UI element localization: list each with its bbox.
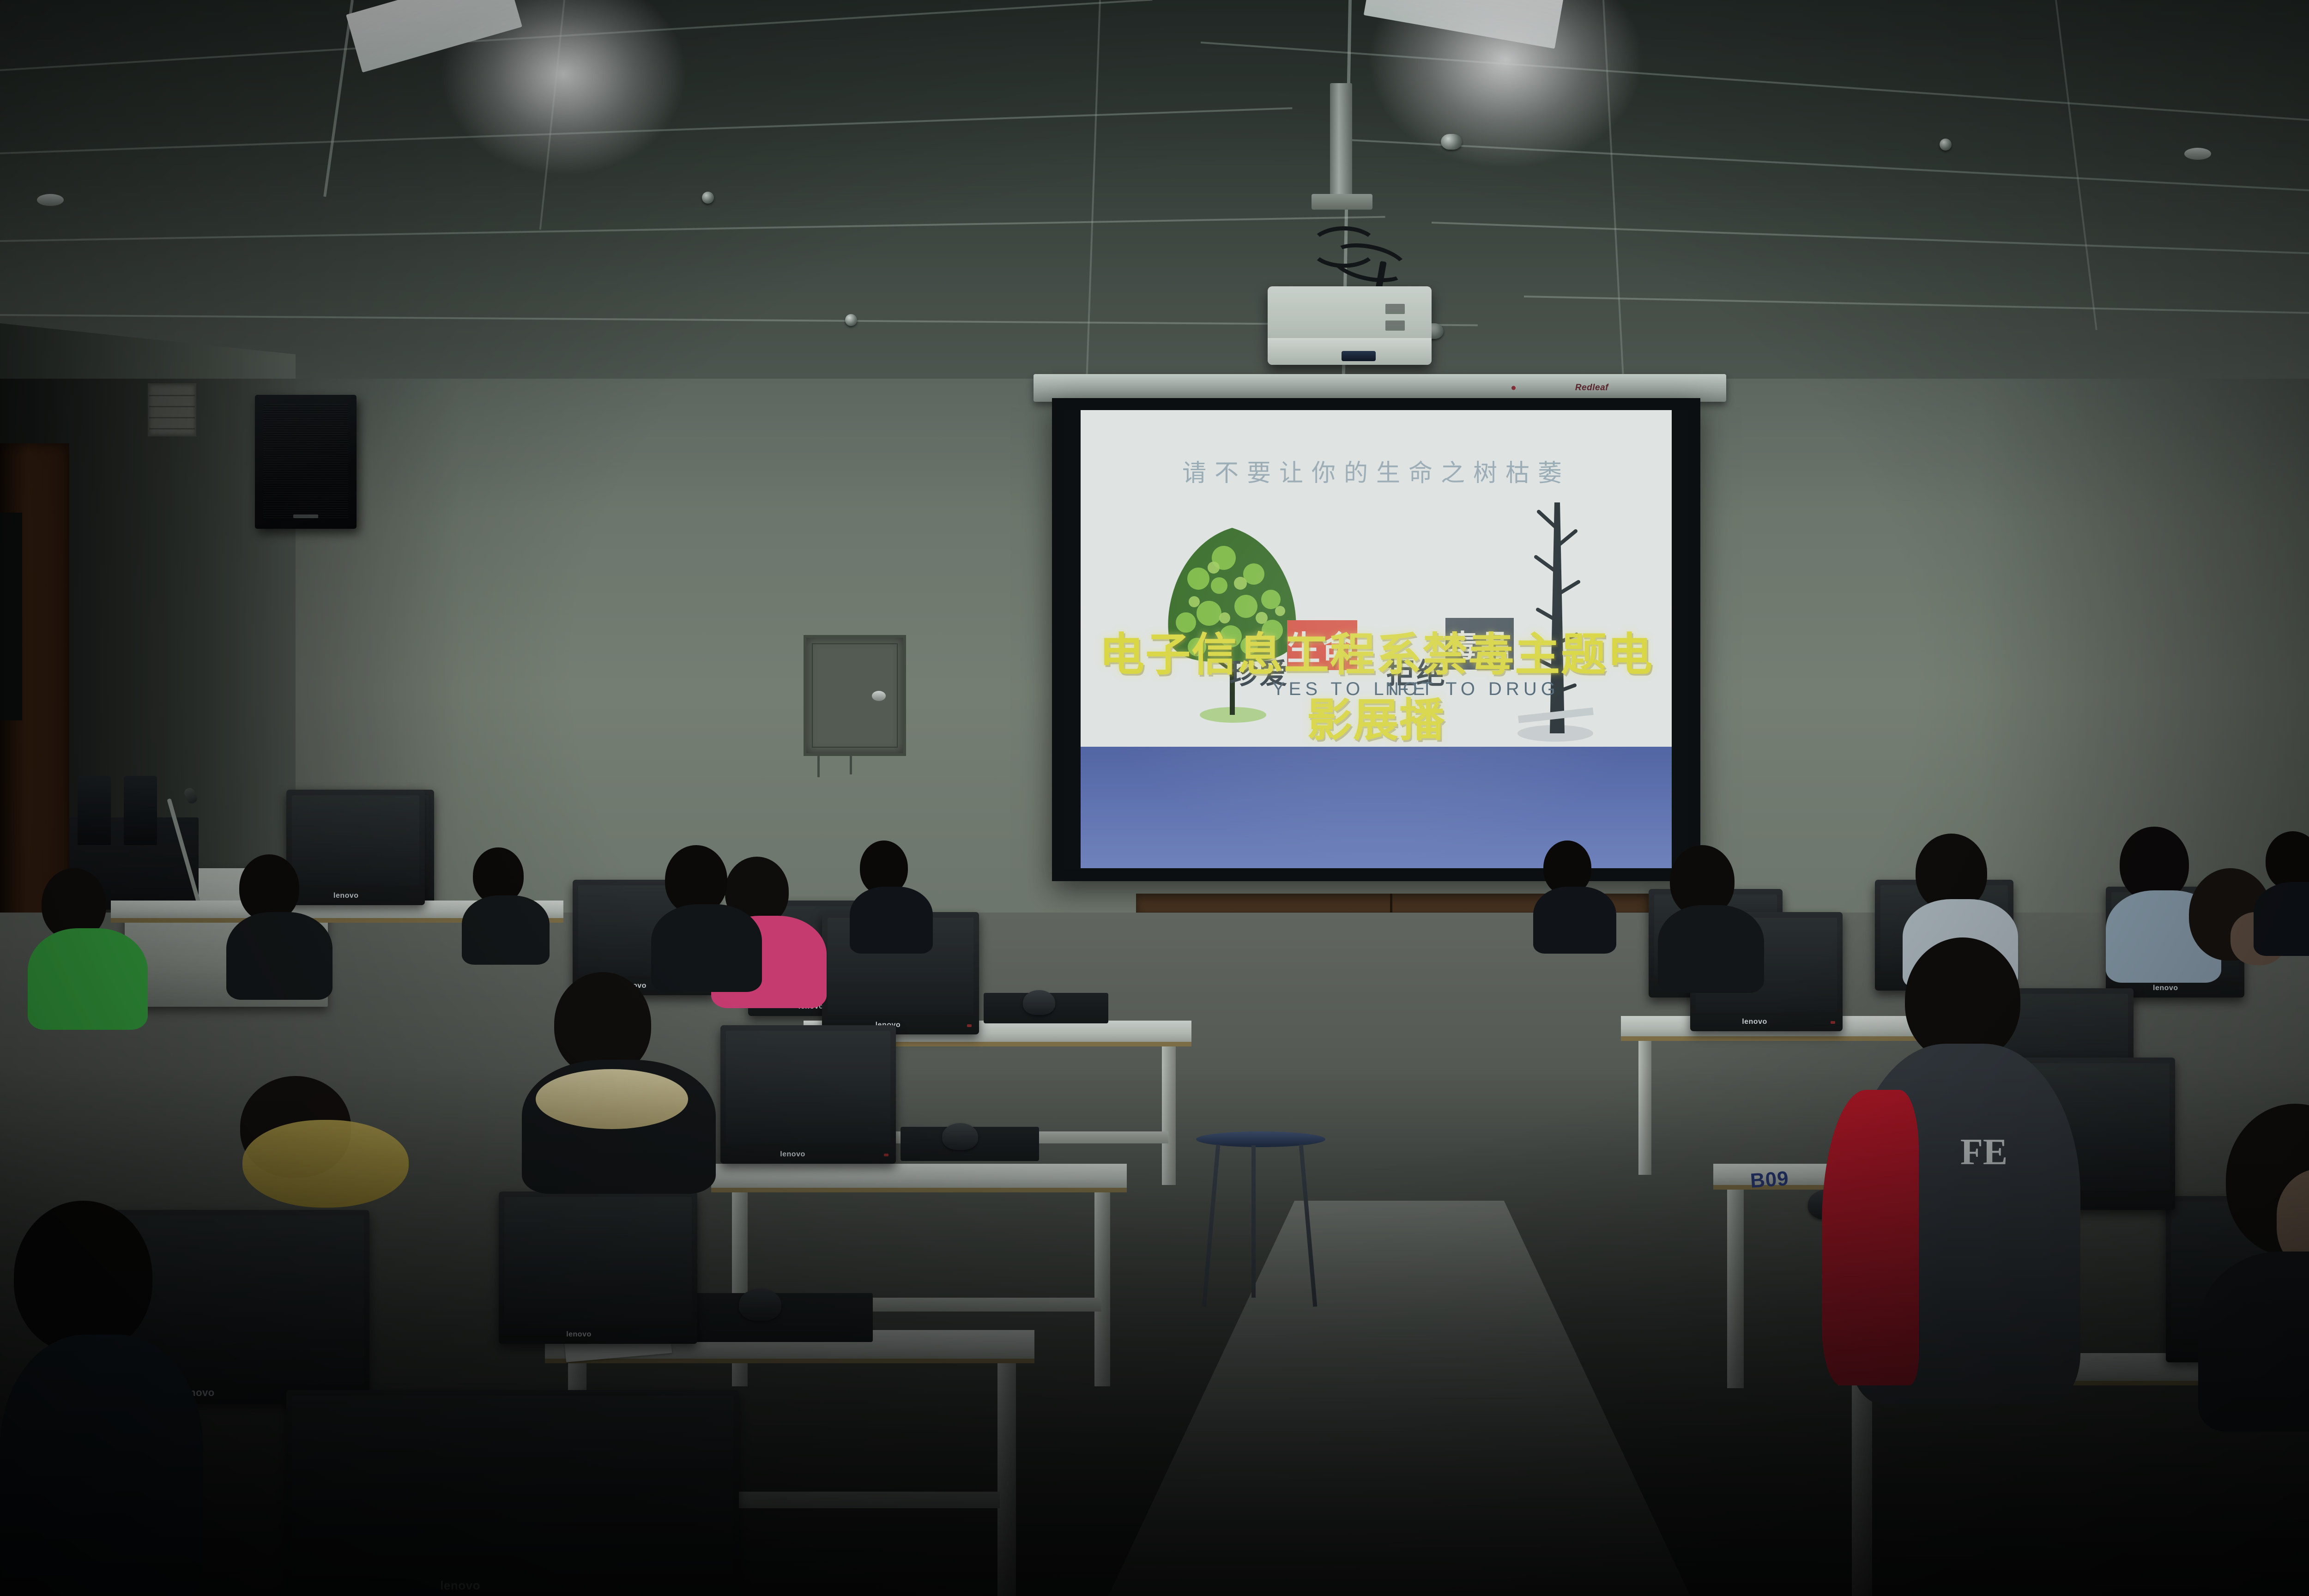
screen-case-brand: Redleaf: [1575, 383, 1608, 393]
desk-row3-left: [711, 1164, 1127, 1192]
smoke-detector-left: [37, 194, 64, 206]
projector-lens: [1342, 351, 1376, 361]
student-fur-collar: [522, 972, 716, 1185]
student-back-4: [2254, 831, 2309, 947]
student-green-shirt: [28, 868, 148, 1025]
projected-slide: 请不要让你的生命之树枯萎: [1081, 410, 1672, 868]
podium-speaker-left: [78, 776, 111, 845]
round-stool[interactable]: [1196, 1131, 1325, 1307]
monitor-fg2: lenovo: [286, 1390, 739, 1596]
sprinkler-head-5: [1940, 139, 1952, 151]
student-yellow-hair: [199, 1076, 420, 1251]
electrical-access-panel[interactable]: [804, 635, 906, 756]
projector-mount-pole: [1330, 83, 1352, 199]
projector-mount-plate: [1312, 194, 1372, 210]
slide-headline: 请不要让你的生命之树枯萎: [1081, 453, 1672, 488]
slide-title-text: 电子信息工程系禁毒主题电影展播: [1081, 618, 1672, 749]
redleaf-logo-dot: [1511, 386, 1516, 390]
desk-number-b09: B09: [1749, 1167, 1789, 1193]
student-dark-2: [651, 845, 762, 984]
vest-shirt-text: FE: [1960, 1131, 2007, 1173]
podium-speaker-right: [124, 776, 157, 845]
ceiling-projector: [1268, 286, 1432, 365]
student-glasses-fg-right: [2198, 1104, 2309, 1427]
mouse-l6[interactable]: [739, 1288, 781, 1321]
monitor-l6: lenovo: [499, 1191, 697, 1344]
projection-screen-case: Redleaf: [1034, 374, 1726, 402]
smoke-detector-right: [2184, 148, 2211, 160]
student-glasses-fg: [0, 1201, 203, 1596]
suspended-ceiling: [0, 0, 2309, 397]
student-red-vest: FE: [1822, 937, 2080, 1399]
mouse-l4[interactable]: [1023, 990, 1055, 1015]
student-ponytail-r: [1658, 845, 1764, 984]
student-back-1: [462, 847, 550, 958]
student-back-3: [1533, 840, 1616, 947]
monitor-l5: lenovo: [720, 1025, 896, 1164]
student-back-2: [850, 840, 933, 947]
classroom-photo: Redleaf 请不要让你的生命之树枯萎: [0, 0, 2309, 1596]
mouse-l5[interactable]: [942, 1123, 978, 1150]
sprinkler-head-2: [845, 314, 857, 326]
projection-screen: 请不要让你的生命之树枯萎: [1052, 398, 1700, 881]
student-dark-1: [226, 854, 332, 993]
sprinkler-head-1: [702, 192, 714, 204]
sprinkler-head-3: [1441, 134, 1462, 150]
